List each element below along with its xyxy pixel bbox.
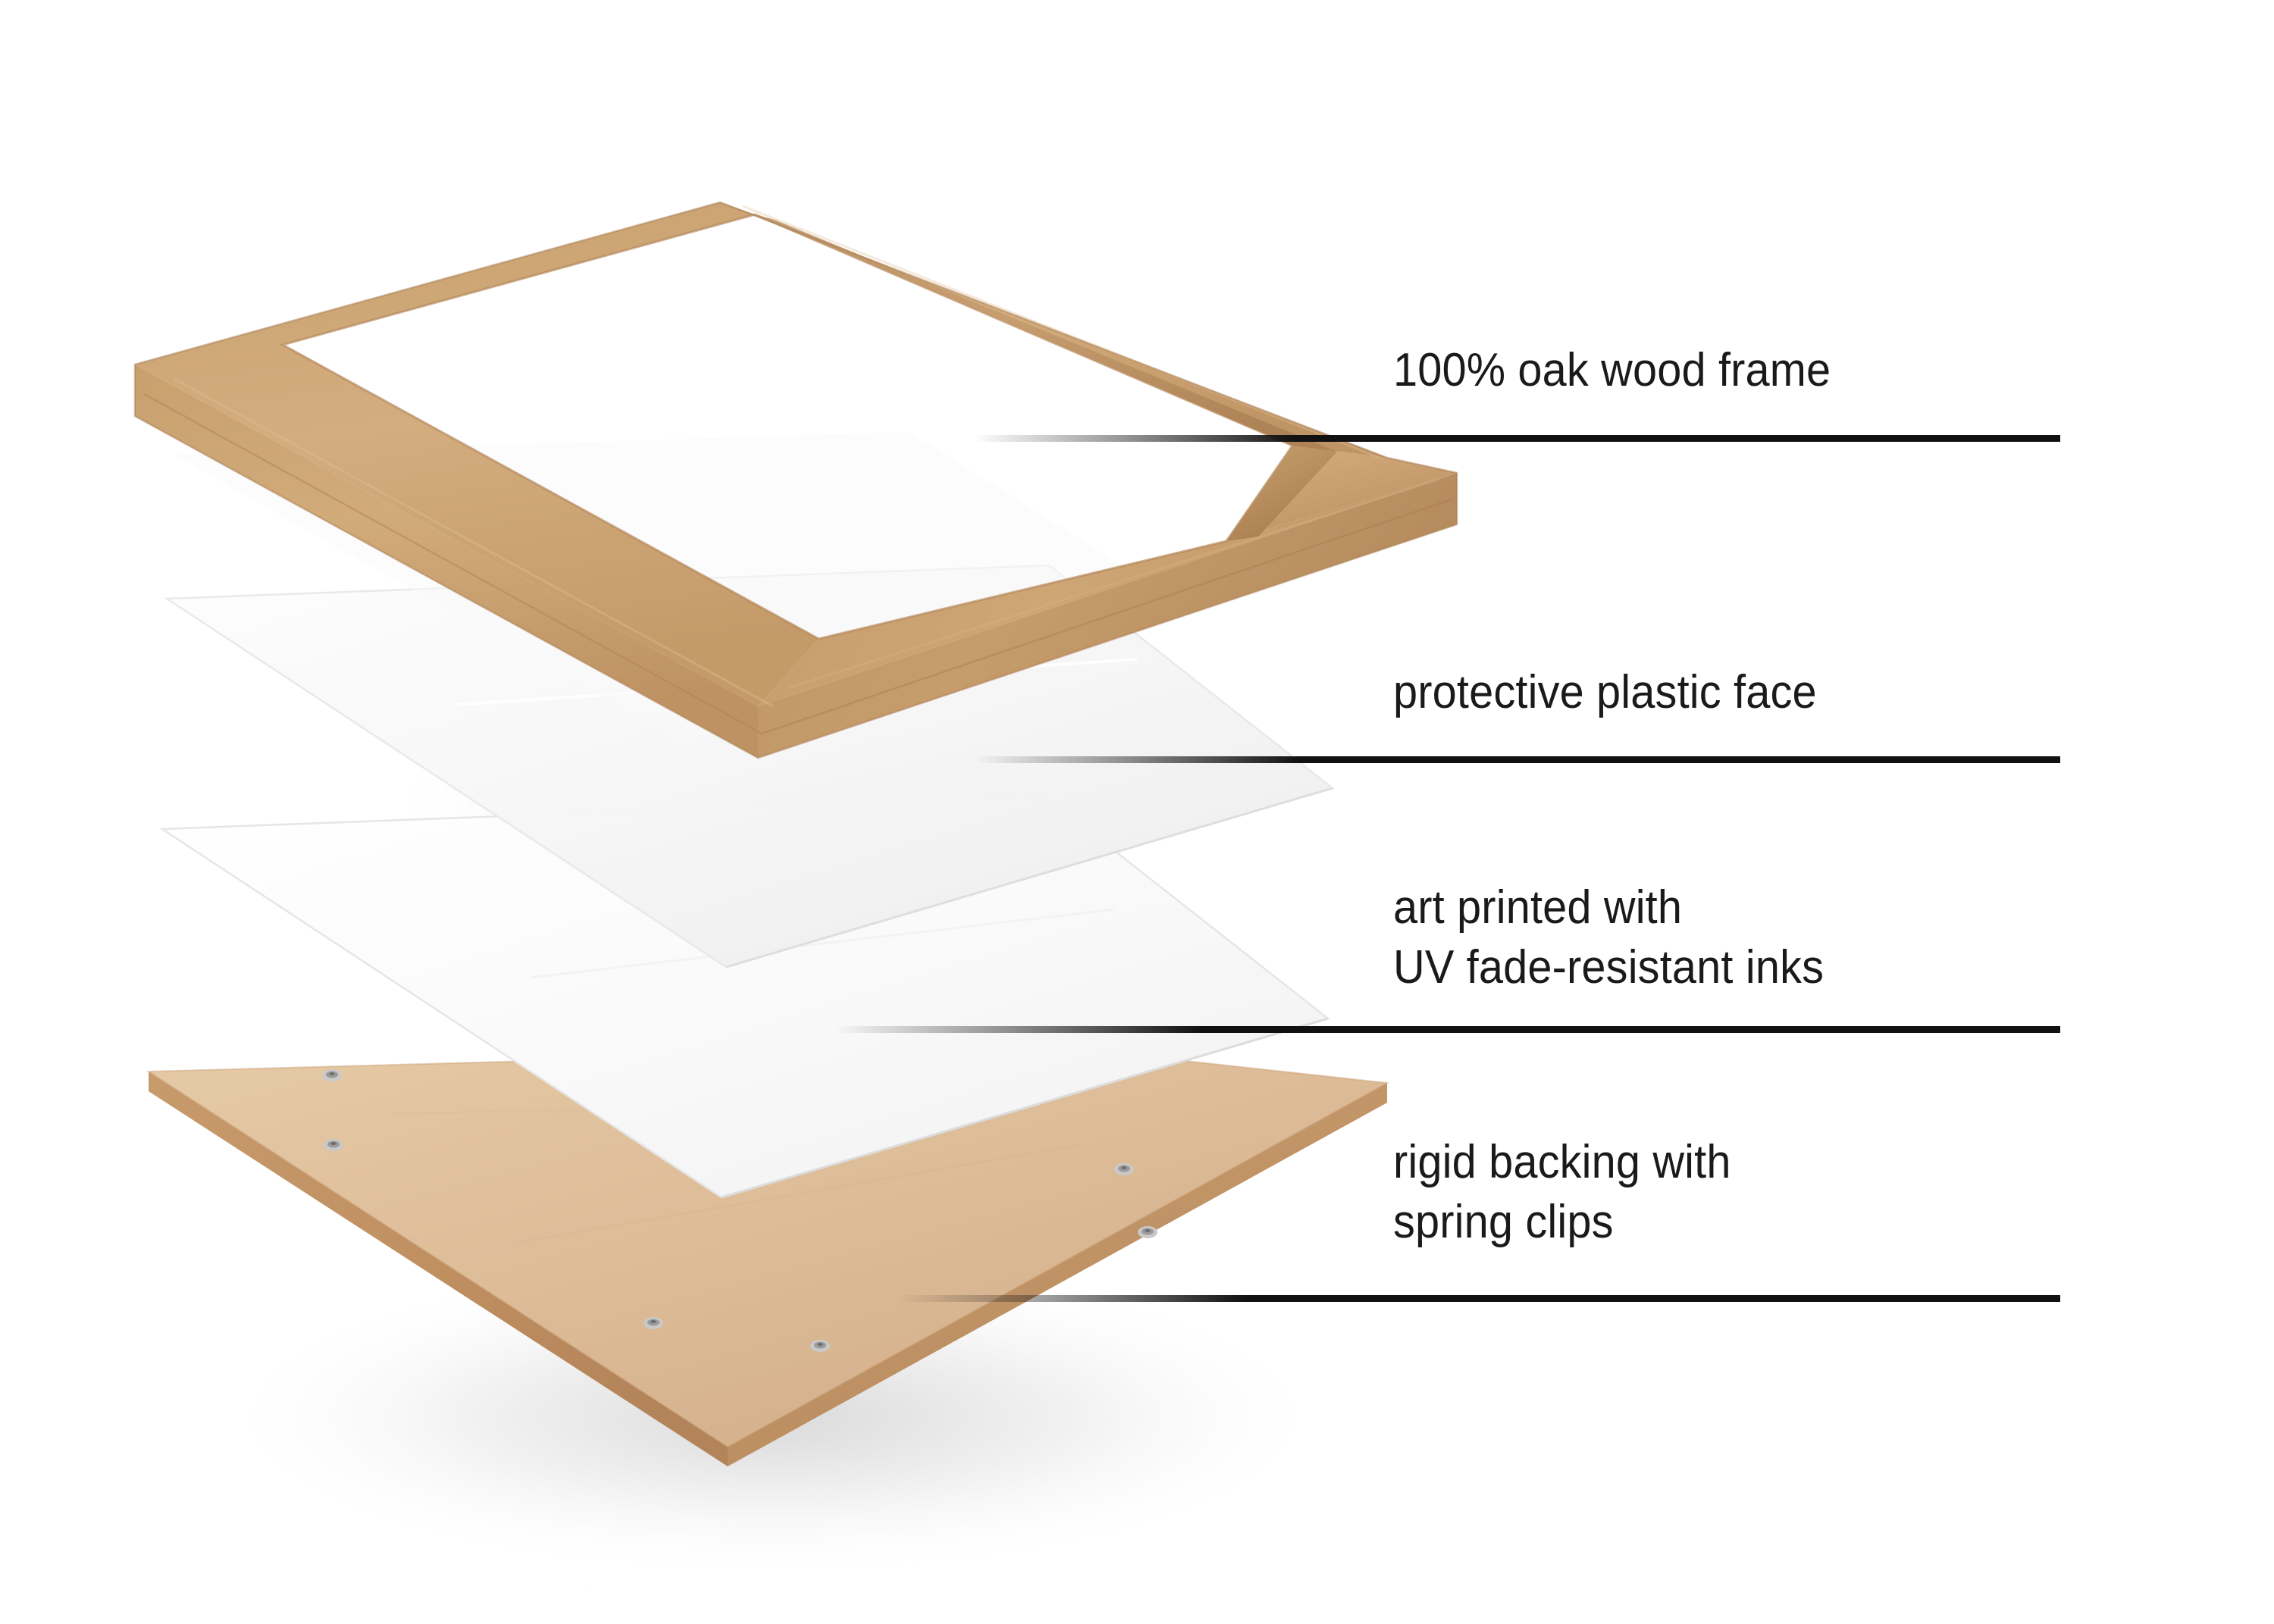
callout-oak-wood-frame[interactable]: 100% oak wood frame [1393,340,1864,400]
callout-rigid-backing[interactable]: rigid backing with spring clips [1393,1132,1756,1253]
spring-clip [324,1139,343,1151]
callout-label-art-print: art printed with UV fade-resistant inks [1393,878,1824,998]
leader-line-plastic [974,756,2060,763]
leader-line-frame [974,435,2060,442]
callout-protective-plastic-face[interactable]: protective plastic face [1393,662,1849,722]
spring-clip [644,1317,663,1329]
exploded-frame-diagram: 100% oak wood frame protective plastic f… [0,0,2274,1624]
callout-label-protective-plastic-face: protective plastic face [1393,662,1817,722]
product-layers-illustration [0,0,2274,1624]
leader-line-art [835,1026,2060,1033]
leader-line-backing [898,1295,2060,1302]
callout-art-print[interactable]: art printed with UV fade-resistant inks [1393,878,1856,998]
callout-label-rigid-backing: rigid backing with spring clips [1393,1132,1731,1253]
spring-clip [322,1069,342,1081]
spring-clip [810,1340,830,1352]
spring-clip [1114,1163,1134,1175]
spring-clip [1138,1226,1157,1238]
callout-label-oak-wood-frame: 100% oak wood frame [1393,340,1831,400]
